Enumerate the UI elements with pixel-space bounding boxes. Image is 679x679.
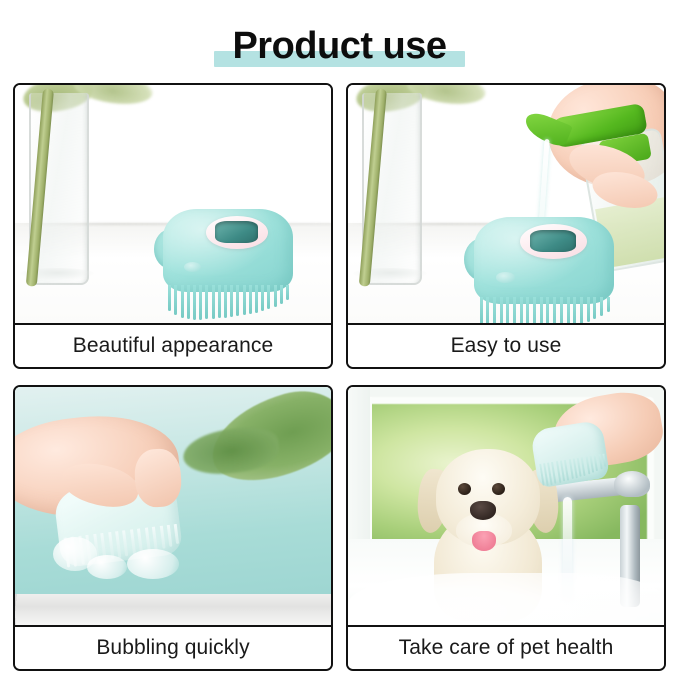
puppy-eye-left bbox=[458, 483, 471, 495]
marble-counter bbox=[15, 594, 331, 625]
panel-grid: Beautiful appearance bbox=[13, 83, 666, 671]
panel-3-caption-text: Bubbling quickly bbox=[96, 636, 249, 660]
foam-bubble bbox=[87, 555, 127, 579]
page-title-text: Product use bbox=[232, 25, 446, 67]
brush-dimple bbox=[184, 262, 201, 272]
silicone-brush bbox=[163, 209, 293, 321]
panel-4-photo bbox=[348, 387, 664, 625]
panel-1-caption-text: Beautiful appearance bbox=[73, 334, 274, 358]
brush-bristles bbox=[480, 297, 610, 323]
puppy-eye-right bbox=[492, 483, 505, 495]
panel-2-caption-text: Easy to use bbox=[451, 334, 562, 358]
silicone-brush bbox=[474, 217, 614, 323]
foam-bubble bbox=[127, 549, 179, 579]
panel-bubbling-quickly: Bubbling quickly bbox=[13, 385, 333, 671]
page-title: Product use bbox=[214, 24, 464, 68]
panel-4-caption: Take care of pet health bbox=[348, 625, 664, 669]
faucet-handle bbox=[614, 471, 650, 497]
panel-2-caption: Easy to use bbox=[348, 323, 664, 367]
brush-dimple bbox=[496, 272, 514, 283]
panel-1-caption: Beautiful appearance bbox=[15, 323, 331, 367]
panel-2-photo bbox=[348, 85, 664, 323]
white-studio-scene bbox=[15, 85, 331, 323]
panel-1-photo bbox=[15, 85, 331, 323]
puppy-tongue bbox=[472, 531, 496, 551]
panel-beautiful-appearance: Beautiful appearance bbox=[13, 83, 333, 369]
teal-background-scene bbox=[15, 387, 331, 625]
brush-soap-opening bbox=[530, 230, 576, 252]
puppy-nose bbox=[470, 501, 496, 520]
brush-soap-opening bbox=[215, 221, 258, 242]
white-studio-scene bbox=[348, 85, 664, 323]
panel-4-caption-text: Take care of pet health bbox=[399, 636, 614, 660]
bath-suds bbox=[348, 573, 664, 625]
brush-bristles bbox=[168, 285, 289, 321]
panel-3-photo bbox=[15, 387, 331, 625]
panel-take-care-of-pet-health: Take care of pet health bbox=[346, 385, 666, 671]
silicone-brush bbox=[530, 420, 610, 489]
panel-easy-to-use: Easy to use bbox=[346, 83, 666, 369]
page-title-wrap: Product use bbox=[0, 18, 679, 74]
bathroom-scene bbox=[348, 387, 664, 625]
panel-3-caption: Bubbling quickly bbox=[15, 625, 331, 669]
product-use-infographic: Product use bbox=[0, 0, 679, 679]
